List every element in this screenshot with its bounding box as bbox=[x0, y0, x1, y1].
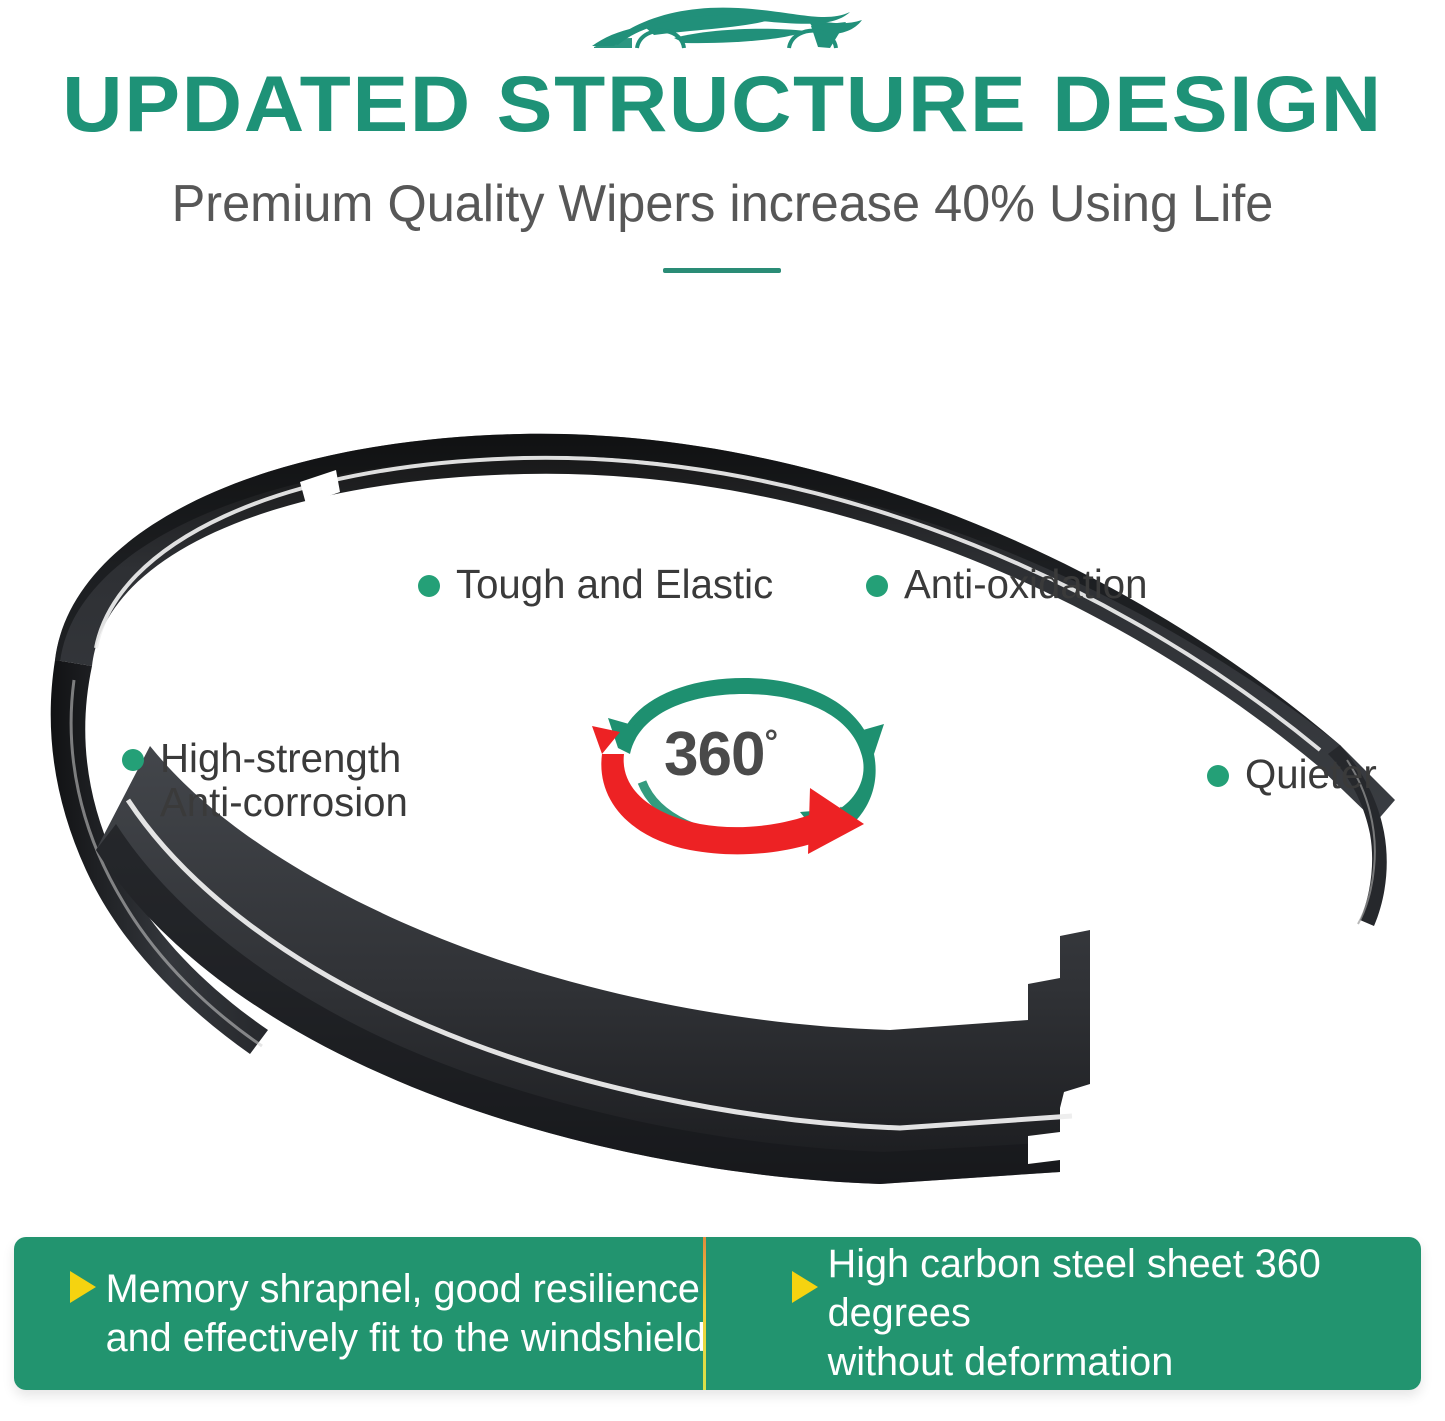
strip-notch-lower-c bbox=[1028, 1132, 1060, 1164]
feature-high-strength-anti-corrosion: High-strength Anti-corrosion bbox=[122, 736, 413, 825]
badge-number: 360 bbox=[664, 720, 764, 789]
banner-divider bbox=[703, 1237, 706, 1390]
feature-quieter: Quieter bbox=[1207, 752, 1379, 796]
banner-item-text: Memory shrapnel, good resilience and eff… bbox=[70, 1265, 706, 1363]
feature-label: Quieter bbox=[1245, 752, 1377, 796]
bottom-feature-banner: Memory shrapnel, good resilience and eff… bbox=[14, 1237, 1421, 1390]
page-subtitle: Premium Quality Wipers increase 40% Usin… bbox=[22, 176, 1424, 233]
bullet-dot-icon bbox=[418, 575, 440, 597]
car-silhouette-icon bbox=[580, 2, 880, 58]
banner-item-high-carbon-steel: High carbon steel sheet 360 degrees with… bbox=[718, 1237, 1422, 1390]
badge-360-label: 360° bbox=[664, 724, 777, 786]
bullet-dot-icon bbox=[122, 749, 144, 771]
feature-label: Tough and Elastic bbox=[456, 562, 773, 606]
product-feature-infographic: UPDATED STRUCTURE DESIGN Premium Quality… bbox=[0, 0, 1445, 1421]
banner-item-memory-shrapnel: Memory shrapnel, good resilience and eff… bbox=[14, 1237, 718, 1390]
feature-label: High-strength Anti-corrosion bbox=[160, 736, 408, 825]
banner-item-text: High carbon steel sheet 360 degrees with… bbox=[792, 1240, 1415, 1386]
title-divider bbox=[663, 268, 781, 273]
badge-360-degree: 360° bbox=[572, 662, 912, 862]
feature-label: Anti-oxidation bbox=[904, 562, 1147, 606]
bullet-dot-icon bbox=[1207, 765, 1229, 787]
badge-degree-symbol: ° bbox=[764, 723, 777, 761]
page-title: UPDATED STRUCTURE DESIGN bbox=[0, 64, 1445, 143]
bullet-dot-icon bbox=[866, 575, 888, 597]
feature-tough-and-elastic: Tough and Elastic bbox=[418, 562, 780, 606]
feature-anti-oxidation: Anti-oxidation bbox=[866, 562, 1152, 606]
strip-notch-lower-a bbox=[1024, 940, 1056, 982]
